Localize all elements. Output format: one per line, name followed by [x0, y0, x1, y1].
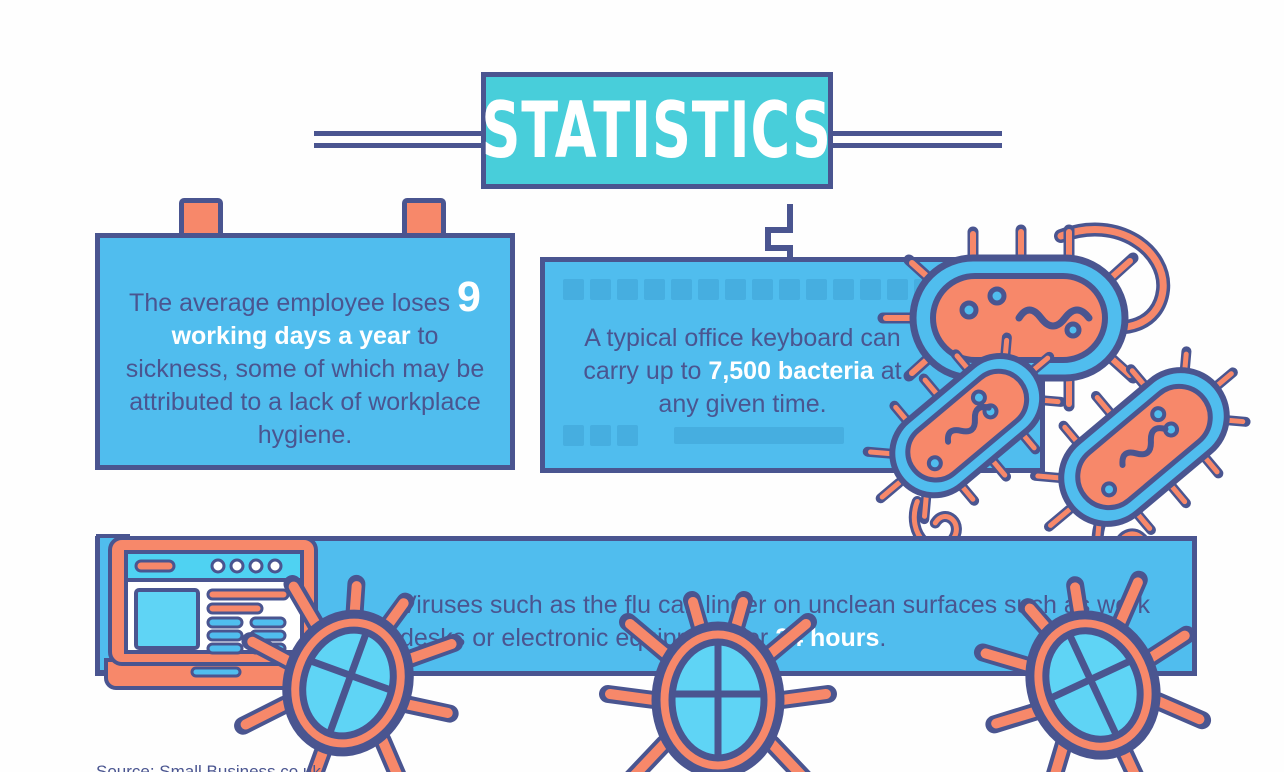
keyboard-key — [806, 279, 827, 300]
keyboard-key — [671, 279, 692, 300]
keyboard-cable-icon — [758, 204, 806, 262]
virus-text-part-2: . — [879, 624, 886, 652]
keyboard-key — [617, 425, 638, 446]
virus-stat-emphasis: 24 hours — [775, 624, 879, 652]
title-rule-left-bottom — [314, 143, 484, 148]
title-box: STATISTICS — [481, 72, 833, 189]
keyboard-key — [617, 279, 638, 300]
keyboard-top-key-row — [563, 279, 1043, 300]
source-attribution: Source: Small Business.co.uk — [96, 762, 321, 772]
infographic-canvas: STATISTICS The average employee loses 9 … — [0, 0, 1284, 772]
keyboard-key — [644, 279, 665, 300]
keyboard-key — [779, 279, 800, 300]
stat-card-calendar-text: The average employee loses 9 working day… — [100, 238, 510, 452]
title-rule-right-top — [832, 131, 1002, 136]
title-rule-right-bottom — [832, 143, 1002, 148]
keyboard-key — [698, 279, 719, 300]
keyboard-key — [1022, 279, 1043, 300]
stat-card-calendar: The average employee loses 9 working day… — [95, 233, 515, 470]
keyboard-key — [995, 279, 1016, 300]
keyboard-key — [833, 279, 854, 300]
stat-card-keyboard-text: A typical office keyboard can carry up t… — [565, 322, 920, 421]
keyboard-key — [860, 279, 881, 300]
page-title: STATISTICS — [482, 92, 832, 170]
keyboard-key — [590, 279, 611, 300]
keyboard-key — [752, 279, 773, 300]
keyboard-spacebar — [674, 427, 844, 444]
keyboard-key — [563, 425, 584, 446]
stat-card-virus-text: Viruses such as the flu can linger on un… — [400, 589, 1182, 655]
calendar-stat-emphasis: working days a year — [172, 322, 411, 350]
stat-card-keyboard: A typical office keyboard can carry up t… — [540, 257, 1045, 473]
stat-card-virus: Viruses such as the flu can linger on un… — [95, 536, 1197, 676]
keyboard-key — [941, 279, 962, 300]
keyboard-bottom-key-row — [563, 425, 844, 446]
title-rule-left-top — [314, 131, 484, 136]
calendar-stat-number: 9 — [457, 273, 481, 321]
calendar-text-part-1: The average employee loses — [129, 289, 457, 317]
keyboard-stat-emphasis: 7,500 bacteria — [708, 357, 873, 385]
keyboard-key — [725, 279, 746, 300]
keyboard-key — [887, 279, 908, 300]
keyboard-key — [914, 279, 935, 300]
keyboard-key — [590, 425, 611, 446]
keyboard-key — [968, 279, 989, 300]
keyboard-key — [563, 279, 584, 300]
title-banner: STATISTICS — [0, 36, 1284, 156]
